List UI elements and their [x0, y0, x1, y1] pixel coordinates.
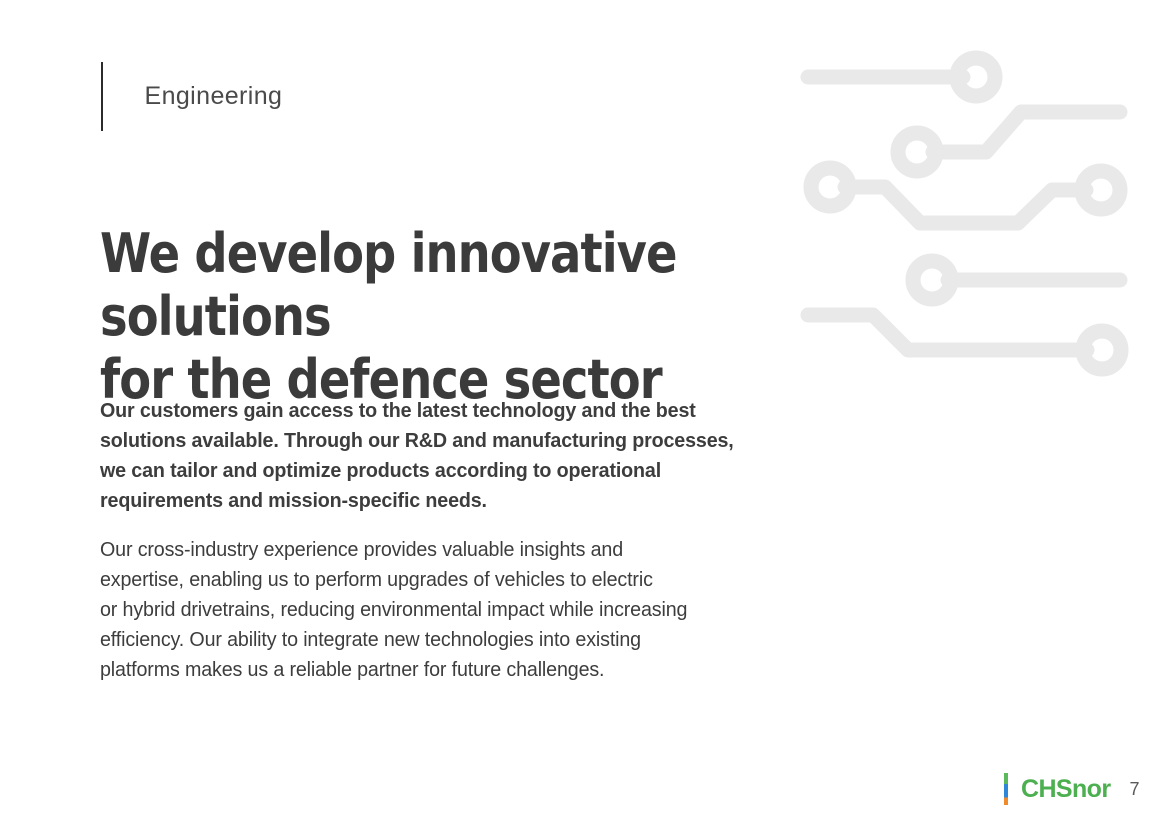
circuit-node-3: [811, 168, 849, 206]
circuit-trace-5: [808, 315, 1087, 350]
body-paragraph-secondary: Our cross-industry experience provides v…: [100, 535, 868, 685]
page-title: We develop innovative solutions for the …: [100, 222, 805, 411]
slide-canvas: Engineering We develop innovative soluti…: [0, 0, 1166, 827]
brand-logo-text: CHSnor: [1021, 777, 1110, 802]
circuit-trace-2: [933, 112, 1120, 152]
page-number: 7: [1129, 780, 1139, 798]
kicker-rule: [101, 62, 103, 131]
footer: CHSnor 7: [1004, 772, 1139, 806]
circuit-node-5: [913, 261, 951, 299]
circuit-trace-3: [845, 187, 1086, 223]
kicker: Engineering: [101, 62, 282, 131]
body-copy: Our customers gain access to the latest …: [100, 396, 900, 685]
circuit-node-4: [1082, 171, 1120, 209]
kicker-label: Engineering: [145, 82, 283, 111]
circuit-node-6: [1083, 331, 1121, 369]
body-paragraph-lead: Our customers gain access to the latest …: [100, 396, 868, 516]
circuit-node-1: [957, 58, 995, 96]
circuit-node-2: [898, 133, 936, 171]
brand-accent-bar-icon: [1004, 773, 1008, 805]
circuit-board-decoration: [790, 40, 1166, 380]
